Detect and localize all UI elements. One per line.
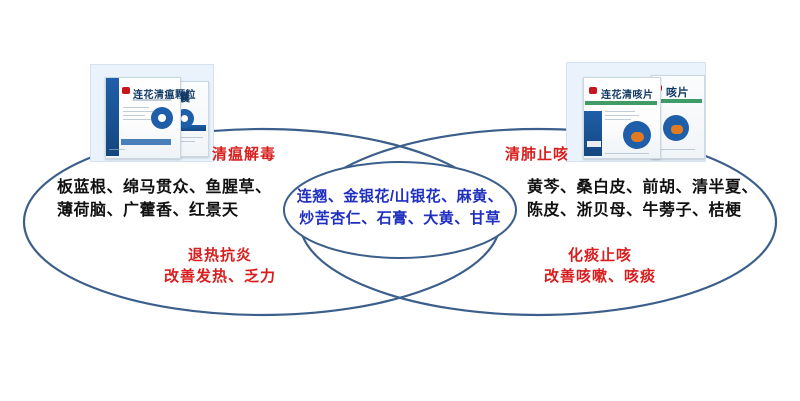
left-effect-line-1: 退热抗炎 <box>130 245 310 266</box>
right-ingredients-line-2: 陈皮、浙贝母、牛蒡子、桔梗 <box>527 199 758 222</box>
right-effect-line-1: 化痰止咳 <box>505 245 695 266</box>
center-ingredients-line-2: 炒苦杏仁、石膏、大黄、甘草 <box>287 208 513 230</box>
left-ingredients-line-1: 板蓝根、绵马贯众、鱼腥草、 <box>57 176 272 199</box>
right-effects: 化痰止咳 改善咳嗽、咳痰 <box>505 245 695 287</box>
center-ingredients: 连翘、金银花/山银花、麻黄、 炒苦杏仁、石膏、大黄、甘草 <box>287 186 513 230</box>
left-effect-line-2: 改善发热、乏力 <box>130 266 310 287</box>
right-ingredients: 黄芩、桑白皮、前胡、清半夏、 陈皮、浙贝母、牛蒡子、桔梗 <box>527 176 758 222</box>
right-ingredients-line-1: 黄芩、桑白皮、前胡、清半夏、 <box>527 176 758 199</box>
product-image-lianhua-qingwen: 囊 连花清瘟颗粒 <box>90 64 214 162</box>
product-name-right: 连花清咳片 <box>601 86 654 101</box>
left-heading: 清瘟解毒 <box>212 143 276 164</box>
product-back-label-right: 咳片 <box>666 84 689 100</box>
left-ingredients-line-2: 薄荷脑、广藿香、红景天 <box>57 199 272 222</box>
right-effect-line-2: 改善咳嗽、咳痰 <box>505 266 695 287</box>
center-ingredients-line-1: 连翘、金银花/山银花、麻黄、 <box>287 186 513 208</box>
product-image-lianhua-qingke: 咳片 连花清咳片 <box>566 62 706 162</box>
left-effects: 退热抗炎 改善发热、乏力 <box>130 245 310 287</box>
venn-diagram-canvas: 囊 连花清瘟颗粒 咳片 <box>0 0 800 401</box>
right-heading: 清肺止咳 <box>505 143 569 164</box>
left-ingredients: 板蓝根、绵马贯众、鱼腥草、 薄荷脑、广藿香、红景天 <box>57 176 272 222</box>
